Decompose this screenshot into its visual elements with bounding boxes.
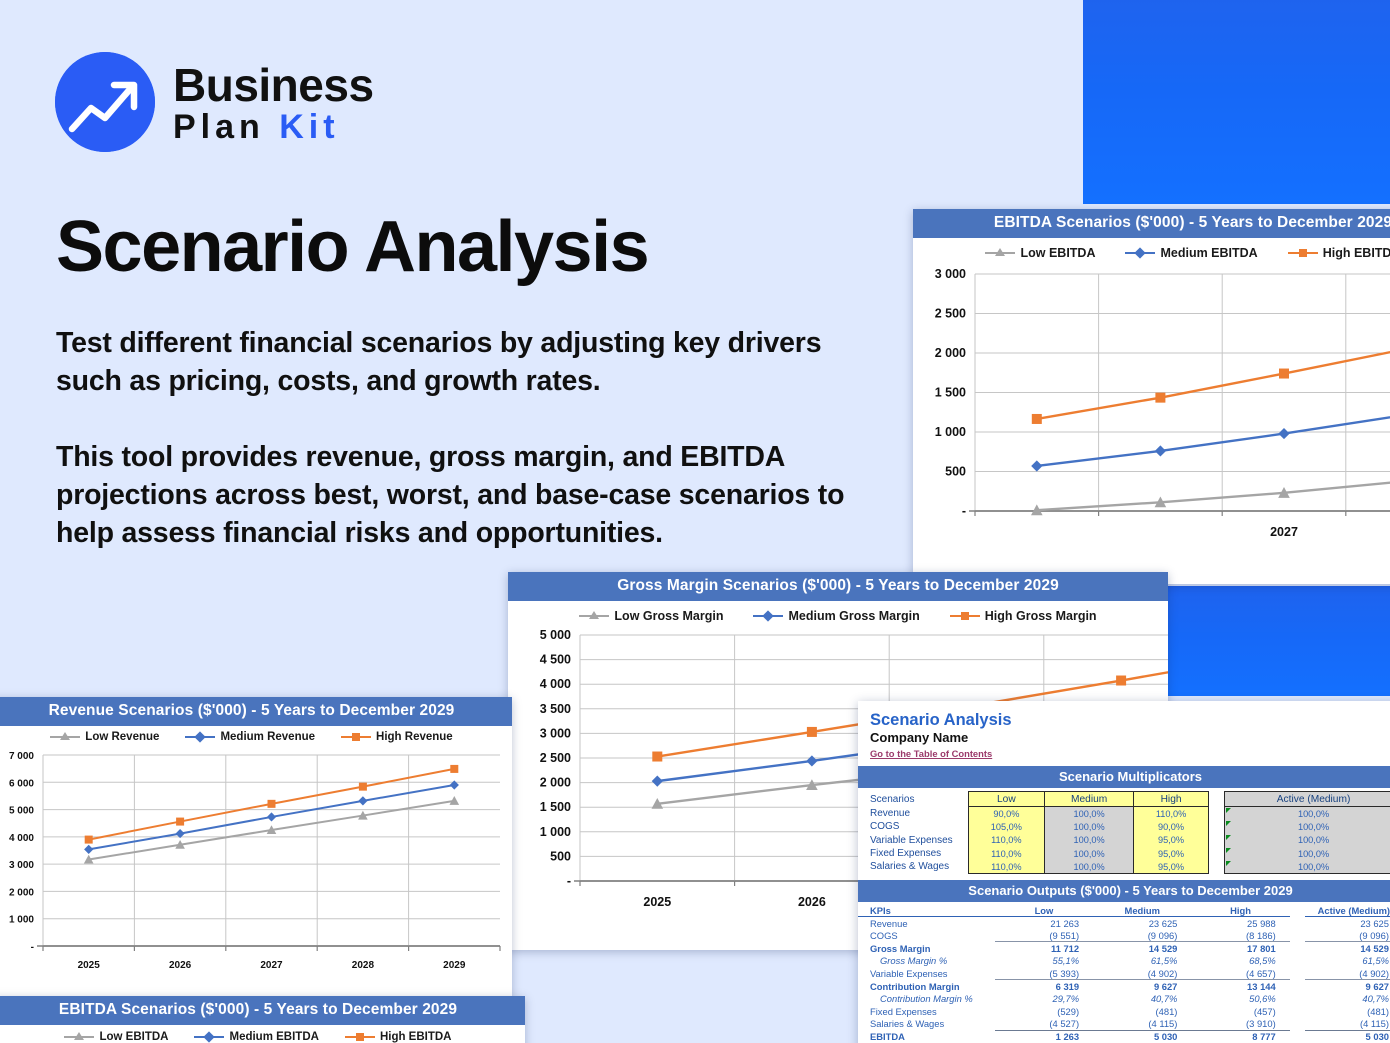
table-row[interactable]: Gross Margin 11 712 14 529 17 801 14 529: [858, 942, 1390, 955]
legend-item-medium-ebitda[interactable]: Medium EBITDA: [194, 1031, 318, 1043]
cell-low: (529): [995, 1005, 1093, 1018]
table-of-contents-link[interactable]: Go to the Table of Contents: [870, 747, 1390, 760]
legend-marker-triangle-icon: [579, 611, 609, 621]
cell-medium: 40,7%: [1093, 992, 1191, 1005]
scenario-outputs-banner: Scenario Outputs ($'000) - 5 Years to De…: [858, 880, 1390, 902]
table-row[interactable]: Contribution Margin 6 319 9 627 13 144 9…: [858, 980, 1390, 993]
table-row[interactable]: COGS (9 551) (9 096) (8 186) (9 096): [858, 929, 1390, 942]
legend-label: Medium EBITDA: [229, 1031, 318, 1043]
scenario-analysis-sheet[interactable]: Scenario Analysis Company Name Go to the…: [858, 701, 1390, 1043]
spacer-cell: [1209, 860, 1225, 873]
svg-text:3 000: 3 000: [9, 860, 34, 871]
chart-card-ebitda-top[interactable]: EBITDA Scenarios ($'000) - 5 Years to De…: [913, 209, 1390, 584]
svg-text:1 000: 1 000: [935, 425, 966, 439]
legend-marker-square-icon: [950, 611, 980, 621]
legend-item-low-ebitda[interactable]: Low EBITDA: [64, 1031, 168, 1043]
cell-high[interactable]: 95,0%: [1134, 834, 1209, 847]
svg-text:2 000: 2 000: [540, 776, 571, 790]
cell-active: (4 115): [1305, 1018, 1390, 1031]
legend-label: Medium Gross Margin: [788, 609, 919, 623]
row-label: COGS: [858, 929, 995, 942]
legend-label: High Revenue: [376, 731, 453, 743]
svg-text:2029: 2029: [443, 960, 466, 971]
cell-low: (4 527): [995, 1018, 1093, 1031]
chart-legend-gross-margin: Low Gross Margin Medium Gross Margin Hig…: [508, 601, 1168, 627]
cell-medium[interactable]: 100,0%: [1045, 847, 1134, 860]
row-label: Contribution Margin %: [858, 992, 995, 1005]
column-header-low[interactable]: Low: [968, 792, 1045, 807]
table-row[interactable]: Revenue 90,0% 100,0% 110,0% 100,0%: [858, 807, 1390, 820]
svg-text:500: 500: [945, 465, 966, 479]
table-row[interactable]: Fixed Expenses (529) (481) (457) (481): [858, 1005, 1390, 1018]
spacer-cell: [1290, 1030, 1305, 1043]
legend-label: Low Gross Margin: [614, 609, 723, 623]
cell-active: 14 529: [1305, 942, 1390, 955]
cell-active: 9 627: [1305, 980, 1390, 993]
spacer-cell: [1290, 942, 1305, 955]
brand-name-line2: Plan Kit: [173, 110, 374, 144]
row-label: Variable Expenses: [858, 967, 995, 980]
cell-low[interactable]: 110,0%: [968, 834, 1045, 847]
svg-text:2 000: 2 000: [9, 887, 34, 898]
spacer-cell: [1209, 847, 1225, 860]
spacer-cell: [1209, 792, 1225, 807]
table-row[interactable]: Revenue 21 263 23 625 25 988 23 625: [858, 917, 1390, 930]
row-label: Gross Margin %: [858, 955, 995, 968]
legend-label: Low EBITDA: [1020, 246, 1095, 260]
scenario-multiplicators-table[interactable]: Scenarios Low Medium High Active (Medium…: [858, 791, 1390, 874]
svg-text:2027: 2027: [260, 960, 283, 971]
legend-item-high-revenue[interactable]: High Revenue: [341, 731, 453, 743]
cell-high: 25 988: [1191, 917, 1289, 930]
column-header-medium[interactable]: Medium: [1045, 792, 1134, 807]
cell-medium: 14 529: [1093, 942, 1191, 955]
cell-low[interactable]: 105,0%: [968, 820, 1045, 833]
cell-high[interactable]: 90,0%: [1134, 820, 1209, 833]
cell-medium[interactable]: 100,0%: [1045, 860, 1134, 873]
hero-paragraph-1: Test different financial scenarios by ad…: [56, 324, 846, 400]
cell-active: 23 625: [1305, 917, 1390, 930]
cell-medium: (4 115): [1093, 1018, 1191, 1031]
spacer-cell: [1290, 904, 1305, 917]
spacer-cell: [1290, 980, 1305, 993]
cell-active: 40,7%: [1305, 992, 1390, 1005]
spacer-cell: [1290, 929, 1305, 942]
cell-low: 11 712: [995, 942, 1093, 955]
svg-text:-: -: [567, 874, 571, 888]
table-row[interactable]: Salaries & Wages 110,0% 100,0% 95,0% 100…: [858, 860, 1390, 873]
legend-marker-square-icon: [345, 1032, 375, 1042]
row-label: Revenue: [858, 807, 968, 820]
cell-active[interactable]: 100,0%: [1225, 847, 1390, 860]
column-header-active[interactable]: Active (Medium): [1225, 792, 1390, 807]
legend-item-low-gross-margin[interactable]: Low Gross Margin: [579, 609, 723, 623]
cell-low[interactable]: 90,0%: [968, 807, 1045, 820]
row-label: Gross Margin: [858, 942, 995, 955]
cell-high: (4 657): [1191, 967, 1289, 980]
cell-medium: 5 030: [1093, 1030, 1191, 1043]
scenario-outputs-table[interactable]: KPIs Low Medium High Active (Medium) Rev…: [858, 904, 1390, 1043]
spacer-cell: [1290, 917, 1305, 930]
column-header-high[interactable]: High: [1134, 792, 1209, 807]
legend-marker-diamond-icon: [753, 611, 783, 621]
cell-medium: 23 625: [1093, 917, 1191, 930]
legend-item-low-ebitda[interactable]: Low EBITDA: [985, 246, 1095, 260]
cell-low: 1 263: [995, 1030, 1093, 1043]
cell-medium: (481): [1093, 1005, 1191, 1018]
svg-text:2026: 2026: [798, 895, 826, 909]
plot-area-revenue: -1 0002 0003 0004 0005 0006 0007 0002025…: [0, 745, 512, 990]
plot-svg-revenue: -1 0002 0003 0004 0005 0006 0007 0002025…: [0, 745, 512, 990]
legend-marker-diamond-icon: [1125, 248, 1155, 258]
cell-low: 55,1%: [995, 955, 1093, 968]
legend-marker-triangle-icon: [64, 1032, 94, 1042]
cell-high[interactable]: 95,0%: [1134, 860, 1209, 873]
chart-legend-ebitda-top: Low EBITDA Medium EBITDA High EBITDA: [913, 238, 1390, 264]
legend-marker-square-icon: [1288, 248, 1318, 258]
cell-active[interactable]: 100,0%: [1225, 820, 1390, 833]
svg-text:7 000: 7 000: [9, 751, 34, 762]
svg-text:-: -: [962, 504, 966, 518]
legend-item-medium-revenue[interactable]: Medium Revenue: [185, 731, 315, 743]
row-label: Salaries & Wages: [858, 1018, 995, 1031]
chart-title-revenue: Revenue Scenarios ($'000) - 5 Years to D…: [0, 697, 512, 726]
cell-active: 61,5%: [1305, 955, 1390, 968]
cell-low: 6 319: [995, 980, 1093, 993]
legend-label: Low Revenue: [85, 731, 159, 743]
column-header-active: Active (Medium): [1305, 904, 1390, 917]
spacer-cell: [1209, 820, 1225, 833]
chart-legend-ebitda-bottom: Low EBITDA Medium EBITDA High EBITDA: [0, 1025, 525, 1043]
row-label: Contribution Margin: [858, 980, 995, 993]
legend-marker-square-icon: [341, 732, 371, 742]
cell-high: 13 144: [1191, 980, 1289, 993]
cell-medium[interactable]: 100,0%: [1045, 820, 1134, 833]
legend-label: Medium EBITDA: [1160, 246, 1257, 260]
cell-high: 50,6%: [1191, 992, 1289, 1005]
svg-text:5 000: 5 000: [9, 806, 34, 817]
plot-area-ebitda-top: -5001 0001 5002 0002 5003 00020272028: [913, 264, 1390, 569]
decorative-blue-block-bottom: [1167, 586, 1390, 696]
row-label: COGS: [858, 820, 968, 833]
column-header-medium: Medium: [1093, 904, 1191, 917]
cell-active[interactable]: 100,0%: [1225, 860, 1390, 873]
cell-active[interactable]: 100,0%: [1225, 834, 1390, 847]
brand-kit-text: Kit: [279, 108, 339, 146]
cell-active: (4 902): [1305, 967, 1390, 980]
table-row[interactable]: Variable Expenses (5 393) (4 902) (4 657…: [858, 967, 1390, 980]
svg-text:5 000: 5 000: [540, 628, 571, 642]
cell-medium[interactable]: 100,0%: [1045, 807, 1134, 820]
brand-plan-text: Plan: [173, 108, 279, 146]
svg-text:2025: 2025: [78, 960, 101, 971]
table-row[interactable]: COGS 105,0% 100,0% 90,0% 100,0%: [858, 820, 1390, 833]
scenarios-label: Scenarios: [858, 792, 968, 807]
table-row[interactable]: Salaries & Wages (4 527) (4 115) (3 910)…: [858, 1018, 1390, 1031]
spacer-cell: [1290, 967, 1305, 980]
table-row[interactable]: Gross Margin % 55,1% 61,5% 68,5% 61,5%: [858, 955, 1390, 968]
brand-logo: Business Plan Kit: [55, 52, 374, 152]
legend-marker-triangle-icon: [985, 248, 1015, 258]
row-label: Fixed Expenses: [858, 847, 968, 860]
svg-text:6 000: 6 000: [9, 778, 34, 789]
svg-text:3 500: 3 500: [540, 702, 571, 716]
cell-low: (5 393): [995, 967, 1093, 980]
cell-medium: (9 096): [1093, 929, 1191, 942]
legend-label: High EBITDA: [380, 1031, 452, 1043]
cell-low: 21 263: [995, 917, 1093, 930]
legend-marker-diamond-icon: [194, 1032, 224, 1042]
cell-low: 29,7%: [995, 992, 1093, 1005]
table-row[interactable]: Variable Expenses 110,0% 100,0% 95,0% 10…: [858, 834, 1390, 847]
svg-text:1 000: 1 000: [9, 915, 34, 926]
legend-item-high-gross-margin[interactable]: High Gross Margin: [950, 609, 1097, 623]
chart-title-ebitda-top: EBITDA Scenarios ($'000) - 5 Years to De…: [913, 209, 1390, 238]
brand-name-line1: Business: [173, 62, 374, 108]
cell-low[interactable]: 110,0%: [968, 860, 1045, 873]
legend-label: High Gross Margin: [985, 609, 1097, 623]
cell-high: 17 801: [1191, 942, 1289, 955]
chart-title-ebitda-bottom: EBITDA Scenarios ($'000) - 5 Years to De…: [0, 996, 525, 1025]
cell-active: (9 096): [1305, 929, 1390, 942]
hero-paragraph-2: This tool provides revenue, gross margin…: [56, 438, 846, 553]
spacer-cell: [1209, 807, 1225, 820]
svg-text:2 500: 2 500: [935, 307, 966, 321]
legend-marker-triangle-icon: [50, 732, 80, 742]
cell-low[interactable]: 110,0%: [968, 847, 1045, 860]
svg-text:4 500: 4 500: [540, 653, 571, 667]
legend-marker-diamond-icon: [185, 732, 215, 742]
legend-item-low-revenue[interactable]: Low Revenue: [50, 731, 159, 743]
svg-text:3 000: 3 000: [540, 726, 571, 740]
cell-active: (481): [1305, 1005, 1390, 1018]
row-label: Salaries & Wages: [858, 860, 968, 873]
cell-high[interactable]: 95,0%: [1134, 847, 1209, 860]
cell-high: (8 186): [1191, 929, 1289, 942]
spacer-cell: [1290, 992, 1305, 1005]
page-title: Scenario Analysis: [56, 210, 648, 285]
legend-item-medium-gross-margin[interactable]: Medium Gross Margin: [753, 609, 919, 623]
chart-title-gross-margin: Gross Margin Scenarios ($'000) - 5 Years…: [508, 572, 1168, 601]
table-row-header: Scenarios Low Medium High Active (Medium…: [858, 792, 1390, 807]
svg-text:2028: 2028: [352, 960, 375, 971]
column-header-high: High: [1191, 904, 1289, 917]
svg-text:4 000: 4 000: [9, 833, 34, 844]
row-label: Fixed Expenses: [858, 1005, 995, 1018]
legend-label: High EBITDA: [1323, 246, 1390, 260]
svg-text:-: -: [31, 942, 34, 953]
legend-label: Low EBITDA: [99, 1031, 168, 1043]
table-row[interactable]: Fixed Expenses 110,0% 100,0% 95,0% 100,0…: [858, 847, 1390, 860]
scenario-multiplicators-banner: Scenario Multiplicators: [858, 766, 1390, 788]
cell-high[interactable]: 110,0%: [1134, 807, 1209, 820]
cell-high: 68,5%: [1191, 955, 1289, 968]
sheet-header: Scenario Analysis Company Name Go to the…: [858, 701, 1390, 760]
cell-low: (9 551): [995, 929, 1093, 942]
legend-item-high-ebitda[interactable]: High EBITDA: [1288, 246, 1390, 260]
svg-text:1 500: 1 500: [540, 800, 571, 814]
cell-active: 5 030: [1305, 1030, 1390, 1043]
table-row-header: KPIs Low Medium High Active (Medium): [858, 904, 1390, 917]
cell-medium: (4 902): [1093, 967, 1191, 980]
cell-medium: 61,5%: [1093, 955, 1191, 968]
legend-label: Medium Revenue: [220, 731, 315, 743]
svg-text:2027: 2027: [1270, 525, 1298, 539]
cell-high: (457): [1191, 1005, 1289, 1018]
svg-text:2 000: 2 000: [935, 346, 966, 360]
column-header-low: Low: [995, 904, 1093, 917]
kpis-header: KPIs: [858, 904, 995, 917]
svg-text:4 000: 4 000: [540, 677, 571, 691]
spacer-cell: [1290, 1018, 1305, 1031]
chart-card-ebitda-bottom[interactable]: EBITDA Scenarios ($'000) - 5 Years to De…: [0, 996, 525, 1043]
sheet-title: Scenario Analysis: [870, 711, 1390, 729]
spacer-cell: [1290, 1005, 1305, 1018]
svg-text:500: 500: [550, 849, 571, 863]
legend-item-high-ebitda[interactable]: High EBITDA: [345, 1031, 452, 1043]
row-label: Revenue: [858, 917, 995, 930]
svg-text:2025: 2025: [643, 895, 671, 909]
svg-text:3 000: 3 000: [935, 267, 966, 281]
decorative-blue-block-top: [1083, 0, 1390, 204]
row-label: Variable Expenses: [858, 834, 968, 847]
svg-text:1 500: 1 500: [935, 386, 966, 400]
chart-card-revenue[interactable]: Revenue Scenarios ($'000) - 5 Years to D…: [0, 697, 512, 997]
cell-medium[interactable]: 100,0%: [1045, 834, 1134, 847]
svg-text:2 500: 2 500: [540, 751, 571, 765]
table-row[interactable]: EBITDA 1 263 5 030 8 777 5 030: [858, 1030, 1390, 1043]
plot-svg-ebitda-top: -5001 0001 5002 0002 5003 00020272028: [913, 264, 1390, 569]
row-label: EBITDA: [858, 1030, 995, 1043]
cell-active[interactable]: 100,0%: [1225, 807, 1390, 820]
spacer-cell: [1209, 834, 1225, 847]
svg-text:2026: 2026: [169, 960, 192, 971]
chart-legend-revenue: Low Revenue Medium Revenue High Revenue: [0, 726, 512, 745]
cell-high: 8 777: [1191, 1030, 1289, 1043]
svg-text:1 000: 1 000: [540, 825, 571, 839]
sheet-company-name: Company Name: [870, 730, 1390, 746]
table-row[interactable]: Contribution Margin % 29,7% 40,7% 50,6% …: [858, 992, 1390, 1005]
legend-item-medium-ebitda[interactable]: Medium EBITDA: [1125, 246, 1257, 260]
growth-arrow-icon: [55, 52, 155, 152]
cell-high: (3 910): [1191, 1018, 1289, 1031]
cell-medium: 9 627: [1093, 980, 1191, 993]
spacer-cell: [1290, 955, 1305, 968]
slide-canvas: Business Plan Kit Scenario Analysis Test…: [0, 0, 1390, 1043]
